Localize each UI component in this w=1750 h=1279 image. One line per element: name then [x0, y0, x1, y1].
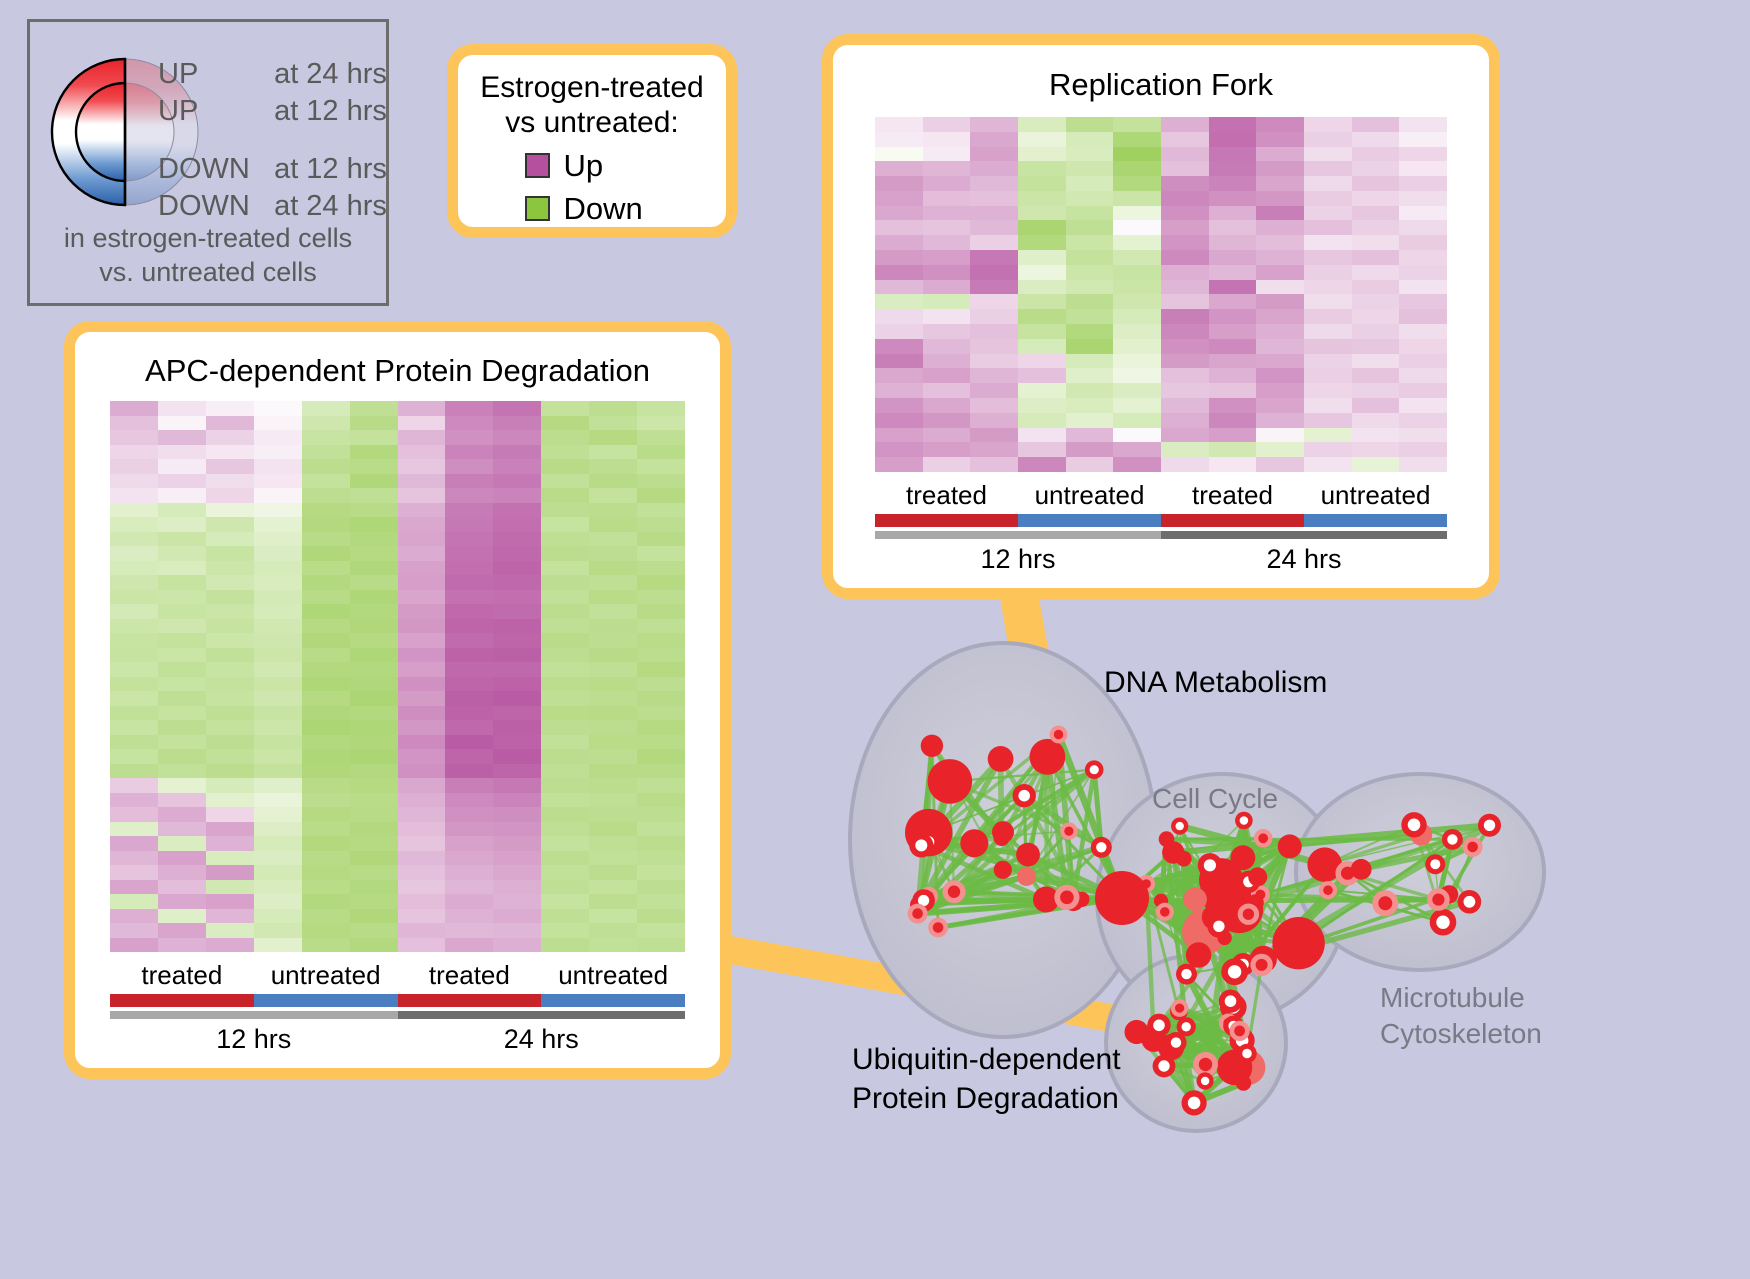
- network-node[interactable]: [921, 735, 943, 757]
- network-node[interactable]: [1478, 814, 1501, 837]
- network-node[interactable]: [1219, 990, 1242, 1013]
- network-node[interactable]: [1425, 854, 1445, 874]
- microtubule-label-line1: Microtubule: [1380, 980, 1542, 1016]
- network-node[interactable]: [1156, 903, 1174, 921]
- network-node[interactable]: [1171, 818, 1188, 835]
- network-node[interactable]: [1236, 1075, 1251, 1090]
- cluster-label-ubiquitin: Ubiquitin-dependent Protein Degradation: [852, 1040, 1121, 1118]
- network-node[interactable]: [1176, 964, 1197, 985]
- cluster-label-dna-metabolism: DNA Metabolism: [1104, 666, 1327, 700]
- network-node[interactable]: [1427, 888, 1450, 911]
- network-node[interactable]: [988, 746, 1014, 772]
- network-node[interactable]: [1254, 829, 1273, 848]
- network-node[interactable]: [1159, 831, 1175, 847]
- network-node[interactable]: [909, 833, 933, 857]
- network-node[interactable]: [1319, 881, 1337, 899]
- network-node[interactable]: [943, 880, 966, 903]
- network-node[interactable]: [1182, 1090, 1207, 1115]
- network-node[interactable]: [1176, 851, 1192, 867]
- network-node[interactable]: [1231, 845, 1256, 870]
- network-node[interactable]: [928, 918, 948, 938]
- network-node[interactable]: [908, 904, 928, 924]
- network-node[interactable]: [1250, 954, 1272, 976]
- network-node[interactable]: [1198, 853, 1222, 877]
- network-node[interactable]: [1016, 843, 1040, 867]
- network-node[interactable]: [1248, 867, 1267, 886]
- network-node[interactable]: [1401, 812, 1426, 837]
- network-node[interactable]: [1463, 837, 1483, 857]
- ubiquitin-label-line1: Ubiquitin-dependent: [852, 1040, 1121, 1079]
- network-node[interactable]: [1085, 760, 1104, 779]
- network-node[interactable]: [1458, 890, 1482, 914]
- network-node[interactable]: [1238, 904, 1259, 925]
- network-node[interactable]: [1054, 885, 1079, 910]
- network-node[interactable]: [1186, 942, 1211, 967]
- network-node[interactable]: [1147, 1014, 1170, 1037]
- network-node[interactable]: [1351, 859, 1372, 880]
- network-node[interactable]: [1091, 837, 1112, 858]
- network-node[interactable]: [1237, 1044, 1256, 1063]
- network-node[interactable]: [1165, 1032, 1186, 1053]
- cluster-label-microtubule: Microtubule Cytoskeleton: [1380, 980, 1542, 1053]
- network-node[interactable]: [1212, 897, 1230, 915]
- microtubule-label-line2: Cytoskeleton: [1380, 1016, 1542, 1052]
- network-node[interactable]: [1012, 784, 1035, 807]
- network-node[interactable]: [1030, 739, 1066, 775]
- network-node[interactable]: [1278, 834, 1302, 858]
- network-node[interactable]: [1095, 871, 1149, 925]
- network-node[interactable]: [960, 829, 988, 857]
- network-node[interactable]: [1050, 726, 1068, 744]
- network-node[interactable]: [1060, 822, 1077, 839]
- network-node[interactable]: [1442, 829, 1463, 850]
- network-node[interactable]: [1183, 888, 1207, 912]
- network-node[interactable]: [1171, 999, 1189, 1017]
- network-node[interactable]: [1230, 1021, 1250, 1041]
- network-node[interactable]: [994, 830, 1010, 846]
- ubiquitin-label-line2: Protein Degradation: [852, 1079, 1121, 1118]
- network-node[interactable]: [1272, 917, 1324, 969]
- network-node[interactable]: [928, 759, 973, 804]
- network-node[interactable]: [994, 861, 1012, 879]
- network-node[interactable]: [1430, 909, 1457, 936]
- network-node[interactable]: [1017, 867, 1036, 886]
- network-node[interactable]: [1207, 915, 1230, 938]
- network-node[interactable]: [1197, 1072, 1214, 1089]
- cluster-label-cell-cycle: Cell Cycle: [1152, 783, 1278, 815]
- network-node[interactable]: [1372, 890, 1398, 916]
- network-node[interactable]: [1221, 958, 1248, 985]
